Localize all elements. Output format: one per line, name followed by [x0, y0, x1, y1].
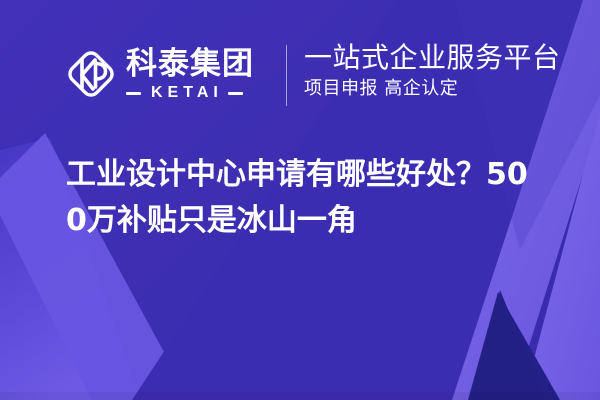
brand-name-cn: 科泰集团	[126, 49, 254, 80]
brand-logo[interactable]: 科泰集团 KETAI	[62, 38, 254, 110]
rule-right-icon	[228, 92, 243, 95]
tagline-block: 一站式企业服务平台 项目申报 高企认定	[304, 42, 561, 100]
brand-name-en: KETAI	[146, 85, 223, 101]
brand-wordmark: 科泰集团 KETAI	[126, 49, 254, 101]
rule-left-icon	[126, 92, 141, 95]
tagline-primary: 一站式企业服务平台	[304, 42, 561, 73]
page-title: 工业设计中心申请有哪些好处？500万补贴只是冰山一角	[66, 152, 536, 244]
promo-banner: 科泰集团 KETAI 一站式企业服务平台 项目申报 高企认定 工业设计中心申请有…	[0, 0, 600, 400]
vertical-divider	[286, 45, 287, 106]
brand-name-en-row: KETAI	[126, 85, 254, 101]
ketai-diamond-kp-monogram-icon	[62, 43, 120, 105]
tagline-secondary: 项目申报 高企认定	[304, 78, 561, 100]
